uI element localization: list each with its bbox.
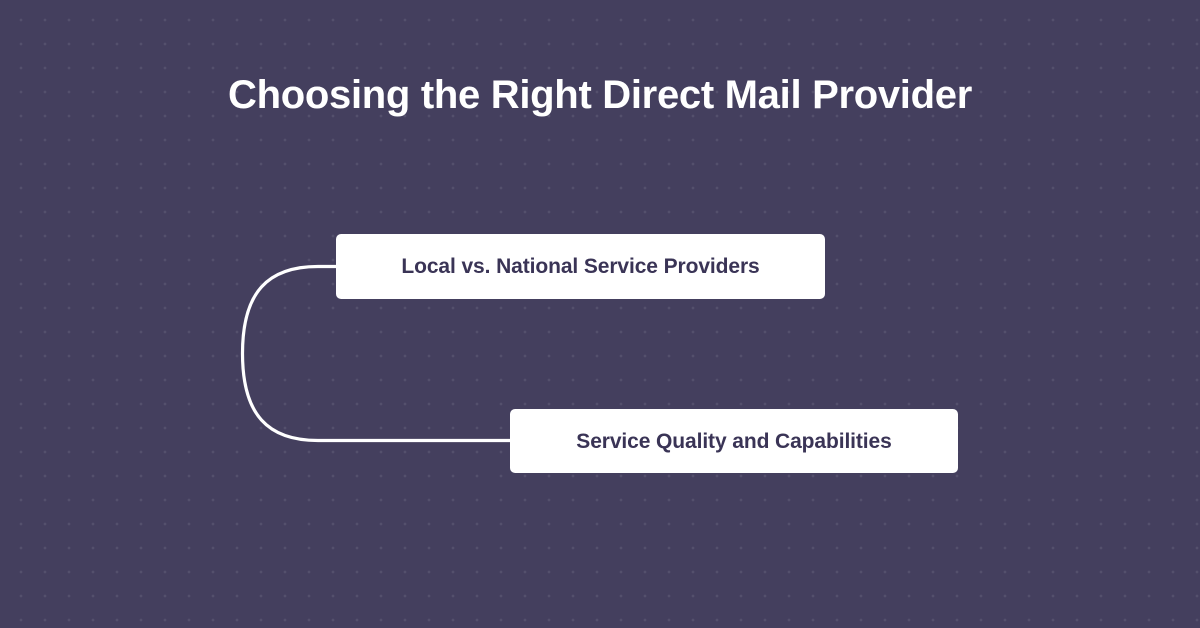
node-card-label: Local vs. National Service Providers — [401, 256, 759, 277]
node-card-local-vs-national[interactable]: Local vs. National Service Providers — [336, 234, 825, 299]
node-card-service-quality[interactable]: Service Quality and Capabilities — [510, 409, 958, 473]
node-card-label: Service Quality and Capabilities — [576, 431, 891, 452]
page-title: Choosing the Right Direct Mail Provider — [0, 66, 1200, 124]
infographic-canvas: Choosing the Right Direct Mail Provider … — [0, 0, 1200, 628]
